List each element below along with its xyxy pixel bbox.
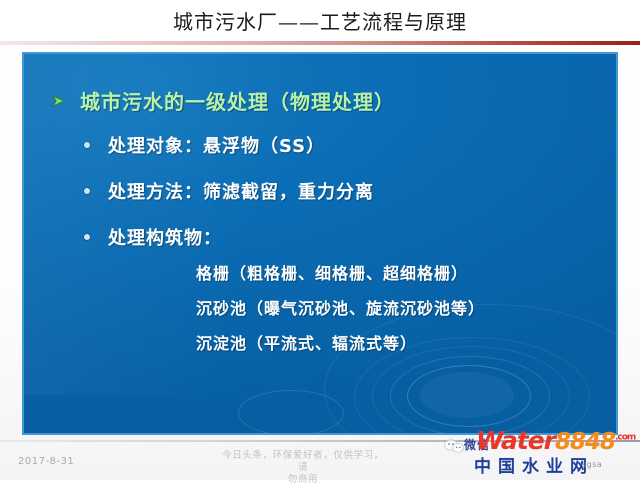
bullet-row-1: 处理对象：悬浮物（SS） xyxy=(84,132,325,158)
bullet-text-3: 处理构筑物： xyxy=(108,224,222,250)
title-divider xyxy=(0,41,640,45)
slide-content-panel: 城市污水的一级处理（物理处理） 处理对象：悬浮物（SS） 处理方法：筛滤截留，重… xyxy=(22,52,618,435)
slide-root: 城市污水厂——工艺流程与原理 城市污水的一级处理（物理处理） xyxy=(0,0,640,480)
bullet-row-2: 处理方法：筛滤截留，重力分离 xyxy=(84,178,374,204)
watermark-line-2: 勿商用 xyxy=(218,474,388,486)
detail-text-2: 沉砂池（曝气沉砂池、旋流沉砂池等） xyxy=(196,295,485,319)
dot-bullet-icon xyxy=(84,188,90,194)
detail-text-3: 沉淀池（平流式、辐流式等） xyxy=(196,330,417,354)
footer-date: 2017-8-31 xyxy=(18,456,74,467)
bullet-text-1: 处理对象：悬浮物（SS） xyxy=(108,132,325,158)
footer-watermark: 今日头条，环保爱好者，仅供学习，请 勿商用 xyxy=(218,450,388,486)
brand-name-cn: 中国水业网 xyxy=(474,452,594,477)
slide-header: 城市污水厂——工艺流程与原理 xyxy=(0,0,640,42)
brand-sub-label: sgsa xyxy=(582,460,602,469)
page-title: 城市污水厂——工艺流程与原理 xyxy=(0,6,640,35)
dot-bullet-icon xyxy=(84,142,90,148)
slide-heading-row: 城市污水的一级处理（物理处理） xyxy=(52,86,395,115)
brand-name-suffix: .com xyxy=(615,433,635,443)
brand-logo: 微信 Water8848.com 中国水业网 sgsa xyxy=(452,424,640,480)
bullet-stack: 城市污水的一级处理（物理处理） 处理对象：悬浮物（SS） 处理方法：筛滤截留，重… xyxy=(24,54,616,433)
wechat-icon xyxy=(444,438,466,454)
arrow-bullet-icon xyxy=(52,94,66,108)
bullet-row-3: 处理构筑物： xyxy=(84,224,222,250)
watermark-line-1: 今日头条，环保爱好者，仅供学习，请 xyxy=(218,450,388,474)
brand-wordmark: Water8848.com xyxy=(476,426,635,455)
brand-name-main: Water xyxy=(476,426,555,455)
slide-heading-text: 城市污水的一级处理（物理处理） xyxy=(80,86,395,115)
dot-bullet-icon xyxy=(84,234,90,240)
bullet-text-2: 处理方法：筛滤截留，重力分离 xyxy=(108,178,374,204)
detail-text-1: 格栅（粗格栅、细格栅、超细格栅） xyxy=(196,260,468,284)
